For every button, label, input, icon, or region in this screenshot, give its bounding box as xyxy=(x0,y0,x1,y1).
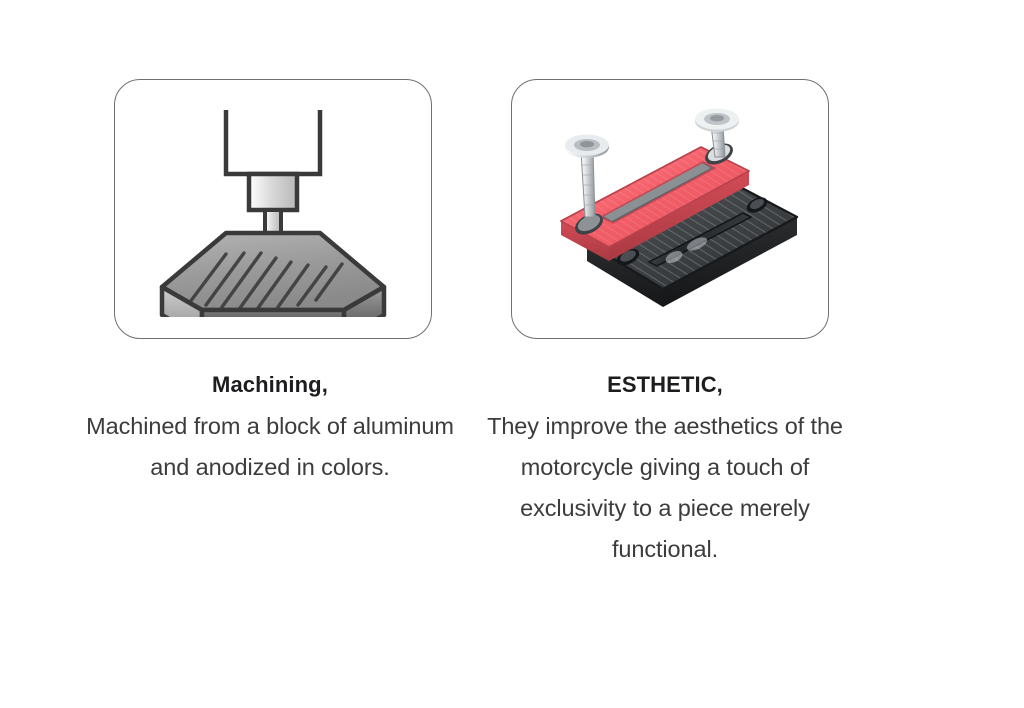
feature-card-machining xyxy=(114,79,432,339)
esthetic-title: ESTHETIC, xyxy=(475,370,855,400)
esthetic-icon-wrapper xyxy=(512,80,828,338)
esthetic-text-block: ESTHETIC, They improve the aesthetics of… xyxy=(475,370,855,570)
machining-icon-wrapper xyxy=(115,80,431,338)
machining-title: Machining, xyxy=(80,370,460,400)
esthetic-description: They improve the aesthetics of the motor… xyxy=(475,406,855,570)
motorcycle-bracket-product-photo xyxy=(525,91,815,327)
machining-text-block: Machining, Machined from a block of alum… xyxy=(80,370,460,488)
feature-section: Machining, Machined from a block of alum… xyxy=(0,0,1024,708)
feature-card-esthetic xyxy=(511,79,829,339)
machining-description: Machined from a block of aluminum and an… xyxy=(80,406,460,488)
cnc-milling-machine-icon xyxy=(148,102,398,317)
